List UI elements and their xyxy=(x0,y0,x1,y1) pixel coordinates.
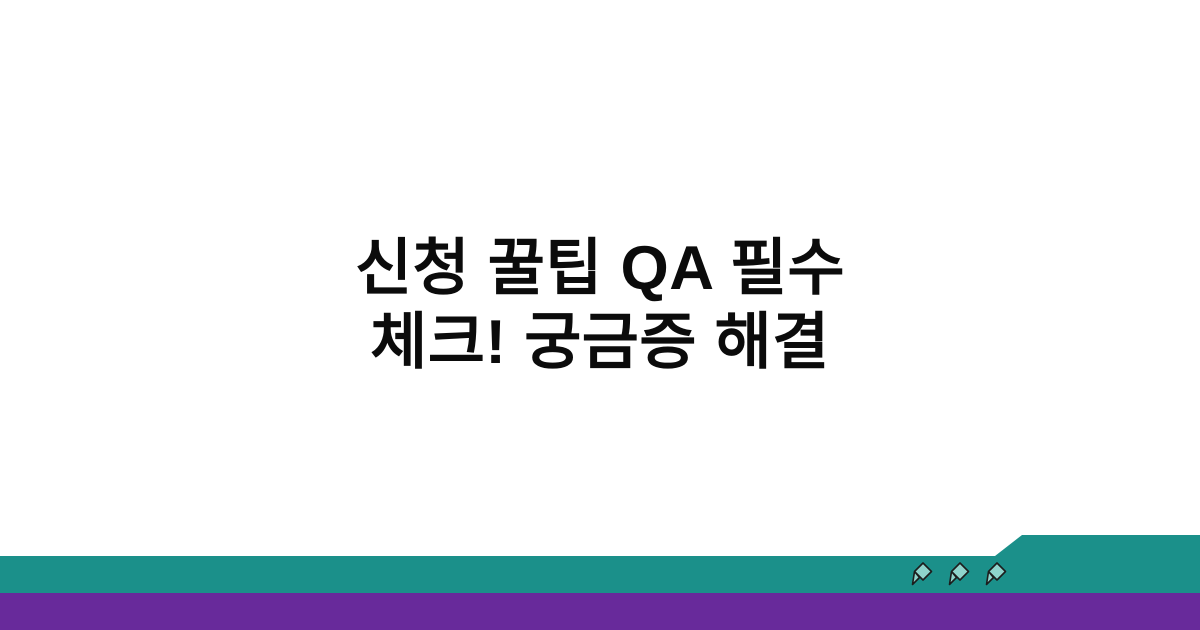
sparkle-diamond-icon xyxy=(910,561,936,587)
purple-band xyxy=(0,593,1200,630)
title-line-2: 체크! 궁금증 해결 xyxy=(0,306,1200,380)
title-line-1: 신청 꿀팁 QA 필수 xyxy=(0,232,1200,306)
thumbnail-card: 신청 꿀팁 QA 필수 체크! 궁금증 해결 xyxy=(0,0,1200,630)
teal-band xyxy=(0,535,1200,593)
sparkle-diamond-icon xyxy=(984,561,1010,587)
sparkle-diamond-icon xyxy=(947,561,973,587)
sparkle-row xyxy=(910,558,1010,590)
page-title: 신청 꿀팁 QA 필수 체크! 궁금증 해결 xyxy=(0,232,1200,380)
